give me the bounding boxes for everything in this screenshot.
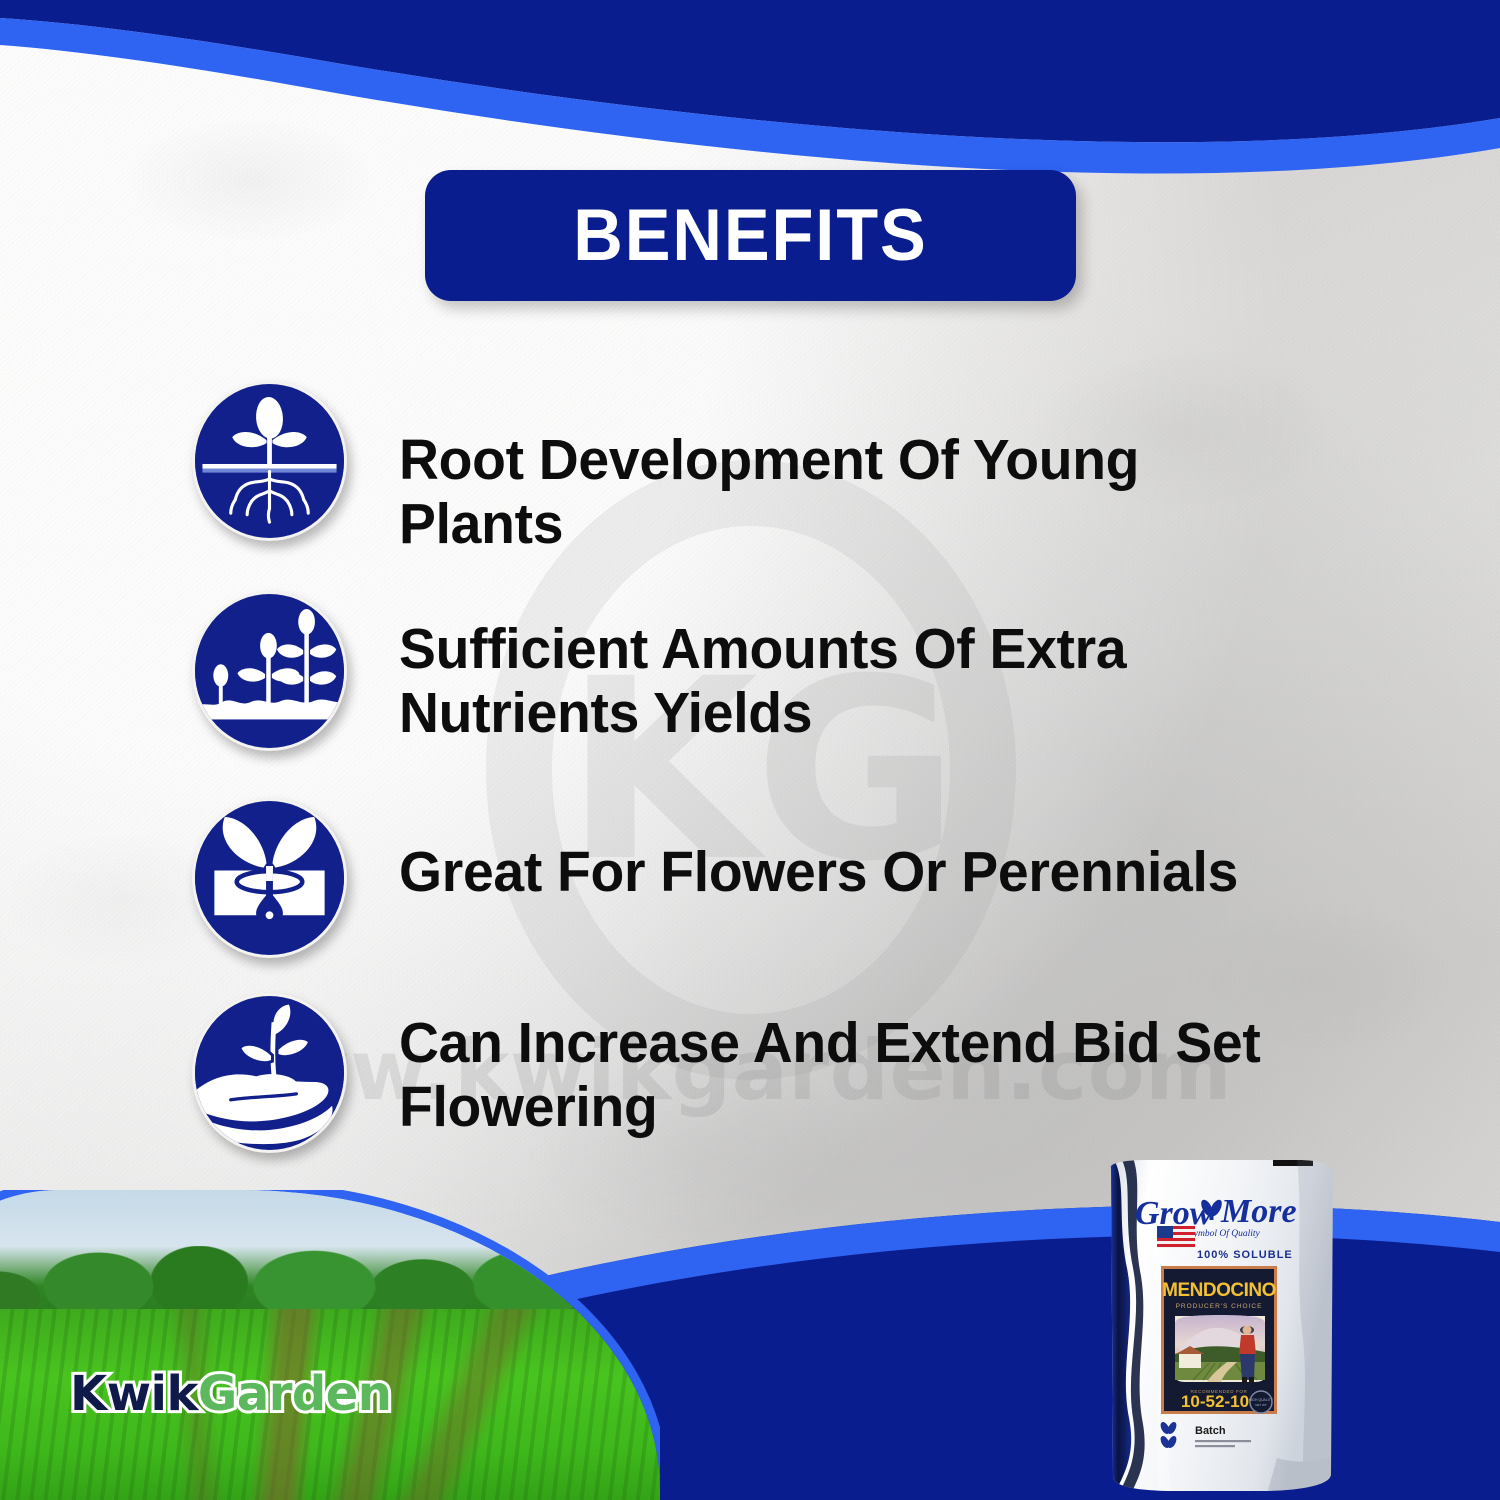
- bag-farm-scene: [1175, 1315, 1265, 1383]
- bag-brand-second: More: [1220, 1193, 1297, 1230]
- bag-npk: 10-52-10: [1181, 1392, 1249, 1411]
- us-flag-icon: [1157, 1226, 1195, 1248]
- growing-plants-icon: [192, 591, 347, 751]
- brand-logo-garden: Garden: [198, 1366, 392, 1422]
- bag-batch-label: Batch: [1195, 1425, 1226, 1437]
- product-bag-image[interactable]: Grow More Symbol Of Quality 100: [1097, 1158, 1347, 1494]
- poster-canvas: KG www.kwikgarden.com BENEFITS: [0, 0, 1500, 1500]
- page-title-pill: BENEFITS: [425, 170, 1076, 301]
- bag-soluble: 100% SOLUBLE: [1197, 1249, 1293, 1261]
- seedling-watering-icon: [192, 798, 347, 958]
- plant-with-roots-icon: [192, 381, 347, 541]
- svg-text:NET WT: NET WT: [1255, 1403, 1267, 1407]
- hand-holding-plant-icon: [192, 993, 347, 1153]
- benefit-text: Sufficient Amounts Of Extra Nutrients Yi…: [399, 591, 1272, 746]
- benefit-row: Root Development Of Young Plants: [192, 381, 1299, 557]
- bag-product-subtitle: PRODUCER'S CHOICE: [1176, 1303, 1263, 1310]
- benefit-row: Sufficient Amounts Of Extra Nutrients Yi…: [192, 591, 1299, 751]
- benefit-text: Root Development Of Young Plants: [399, 381, 1272, 557]
- treeline-region: [0, 1246, 660, 1319]
- bag-npk-note: FOR USE IN: [1200, 1410, 1225, 1415]
- bag-product-name: MENDOCINO: [1162, 1280, 1276, 1301]
- bag-product-label: MENDOCINO PRODUCER'S CHOICE: [1161, 1266, 1277, 1415]
- bag-seal: HIGH QUALITY: [1249, 1398, 1274, 1402]
- field-photo-frame: [0, 1190, 660, 1500]
- benefit-text: Great For Flowers Or Perennials: [399, 798, 1238, 904]
- benefit-row: Great For Flowers Or Perennials: [192, 798, 1264, 958]
- brand-logo-kwik: Kwik: [70, 1366, 198, 1422]
- benefit-text: Can Increase And Extend Bid Set Flowerin…: [399, 993, 1272, 1140]
- page-title: BENEFITS: [573, 194, 927, 277]
- field-photo: [0, 1190, 660, 1500]
- bag-tagline: Symbol Of Quality: [1189, 1228, 1260, 1239]
- brand-logo[interactable]: KwikGarden: [70, 1366, 391, 1422]
- benefit-row: Can Increase And Extend Bid Set Flowerin…: [192, 993, 1299, 1153]
